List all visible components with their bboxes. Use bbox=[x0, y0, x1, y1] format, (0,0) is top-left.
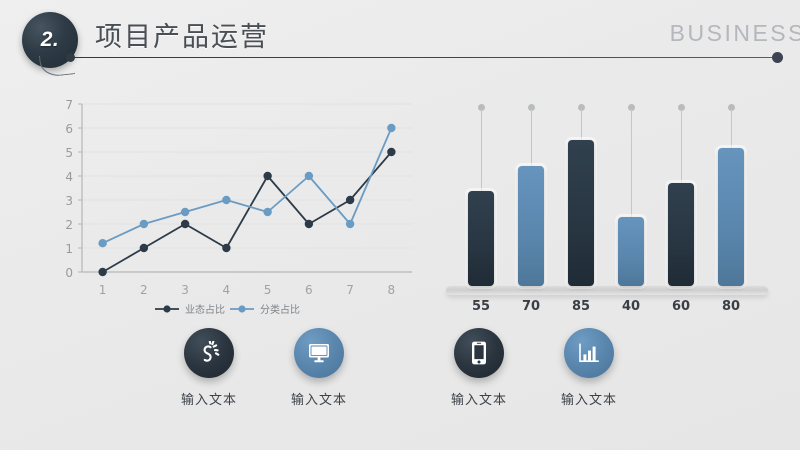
bar-column[interactable] bbox=[568, 96, 594, 291]
bar-value-label: 70 bbox=[511, 299, 551, 314]
business-watermark: BUSINESS bbox=[670, 20, 800, 47]
svg-text:2: 2 bbox=[65, 218, 73, 232]
monitor-icon[interactable] bbox=[294, 328, 344, 378]
bar-value-label: 40 bbox=[611, 299, 651, 314]
line-chart-axes bbox=[78, 104, 412, 272]
icon-row: 输入文本 输入文本 输入文本 输入文本 bbox=[0, 328, 800, 428]
rule-dot-right bbox=[772, 52, 783, 63]
svg-text:7: 7 bbox=[346, 283, 354, 297]
svg-text:分类占比: 分类占比 bbox=[260, 303, 300, 316]
icon-label: 输入文本 bbox=[259, 389, 379, 408]
line-chart-gridlines bbox=[82, 104, 412, 272]
bar-column[interactable] bbox=[518, 96, 544, 291]
svg-text:5: 5 bbox=[65, 146, 73, 160]
line-chart-x-tick-labels: 12345678 bbox=[99, 283, 395, 297]
svg-text:7: 7 bbox=[65, 98, 73, 112]
svg-text:8: 8 bbox=[388, 283, 396, 297]
svg-text:3: 3 bbox=[181, 283, 189, 297]
slide-header: 2. 项目产品运营 BUSINESS bbox=[0, 0, 800, 80]
bar-leader-line bbox=[531, 109, 532, 166]
bar-column[interactable] bbox=[618, 96, 644, 291]
icon-item-3[interactable]: 输入文本 bbox=[419, 328, 539, 408]
svg-text:4: 4 bbox=[223, 283, 231, 297]
bar-chart: 557085406080 bbox=[440, 96, 785, 326]
bar-leader-line bbox=[581, 109, 582, 140]
svg-text:1: 1 bbox=[99, 283, 107, 297]
icon-item-1[interactable]: 输入文本 bbox=[149, 328, 269, 408]
section-number-text: 2. bbox=[41, 28, 60, 52]
bar-rect[interactable] bbox=[618, 217, 644, 286]
bar-leader-line bbox=[631, 109, 632, 217]
line-chart-legend: 业态占比分类占比 bbox=[50, 296, 420, 322]
page-title: 项目产品运营 bbox=[95, 15, 269, 54]
bar-value-label: 85 bbox=[561, 299, 601, 314]
bar-rect[interactable] bbox=[518, 166, 544, 286]
bar-leader-line bbox=[731, 109, 732, 148]
bar-value-label: 55 bbox=[461, 299, 501, 314]
header-rule-line bbox=[70, 57, 778, 58]
line-chart: 01234567 12345678 业态占比分类占比 bbox=[50, 96, 420, 326]
svg-text:6: 6 bbox=[65, 122, 73, 136]
bar-rect[interactable] bbox=[718, 148, 744, 286]
svg-text:6: 6 bbox=[305, 283, 313, 297]
bar-column[interactable] bbox=[668, 96, 694, 291]
bar-chart-value-labels: 557085406080 bbox=[440, 299, 785, 321]
bar-value-label: 60 bbox=[661, 299, 701, 314]
bar-leader-line bbox=[481, 109, 482, 191]
bar-column[interactable] bbox=[718, 96, 744, 291]
bar-leader-line bbox=[681, 109, 682, 183]
bar-value-label: 80 bbox=[711, 299, 751, 314]
bar-rect[interactable] bbox=[568, 140, 594, 286]
svg-text:4: 4 bbox=[65, 170, 73, 184]
line-chart-svg: 01234567 12345678 bbox=[50, 96, 420, 326]
svg-text:2: 2 bbox=[140, 283, 148, 297]
bar-chart-icon[interactable] bbox=[564, 328, 614, 378]
bar-chart-baseline bbox=[446, 286, 768, 295]
svg-text:业态占比: 业态占比 bbox=[185, 303, 225, 316]
magnet-icon[interactable] bbox=[184, 328, 234, 378]
icon-label: 输入文本 bbox=[149, 389, 269, 408]
svg-text:0: 0 bbox=[65, 266, 73, 280]
bar-rect[interactable] bbox=[668, 183, 694, 286]
icon-label: 输入文本 bbox=[419, 389, 539, 408]
icon-item-2[interactable]: 输入文本 bbox=[259, 328, 379, 408]
bar-rect[interactable] bbox=[468, 191, 494, 286]
icon-item-4[interactable]: 输入文本 bbox=[529, 328, 649, 408]
svg-text:1: 1 bbox=[65, 242, 73, 256]
bar-column[interactable] bbox=[468, 96, 494, 291]
icon-label: 输入文本 bbox=[529, 389, 649, 408]
bar-chart-plot bbox=[440, 96, 785, 291]
line-chart-y-tick-labels: 01234567 bbox=[65, 98, 73, 280]
svg-text:5: 5 bbox=[264, 283, 272, 297]
smartphone-icon[interactable] bbox=[454, 328, 504, 378]
svg-text:3: 3 bbox=[65, 194, 73, 208]
